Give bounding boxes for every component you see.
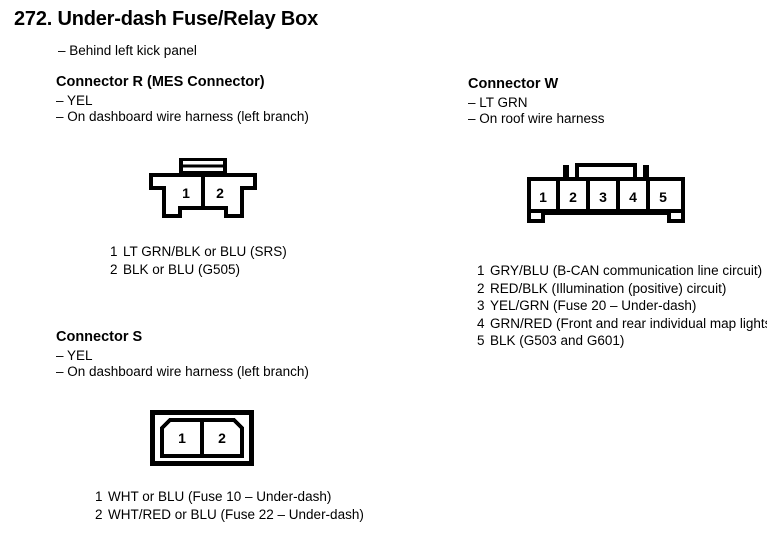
connector-r-color-note: – YEL [56,93,309,108]
page-subtitle: – Behind left kick panel [58,43,197,58]
connector-s-section: Connector S – YEL – On dashboard wire ha… [56,329,309,379]
pin-number: 5 [477,332,490,350]
pin-number: 1 [477,262,490,280]
connector-s-pin-label-1: 1 [178,430,186,446]
connector-r-pin-label-2: 2 [216,185,224,201]
pin-row: 5BLK (G503 and G601) [477,332,767,350]
pin-number: 1 [95,488,108,506]
connector-w-heading: Connector W [468,76,605,92]
pin-number: 2 [110,261,123,279]
pin-description: GRY/BLU (B-CAN communication line circui… [490,263,762,278]
connector-w-color-note: – LT GRN [468,95,605,110]
pin-number: 2 [95,506,108,524]
connector-r-diagram: 1 2 [148,158,258,222]
pin-description: RED/BLK (Illumination (positive) circuit… [490,281,726,296]
connector-r-pin-list: 1LT GRN/BLK or BLU (SRS) 2BLK or BLU (G5… [110,243,287,278]
connector-s-color-note: – YEL [56,348,309,363]
pin-description: WHT or BLU (Fuse 10 – Under-dash) [108,489,331,504]
pin-number: 3 [477,297,490,315]
pin-row: 1GRY/BLU (B-CAN communication line circu… [477,262,767,280]
connector-r-section: Connector R (MES Connector) – YEL – On d… [56,74,309,124]
connector-w-pin-label-1: 1 [539,189,547,205]
connector-s-pin-label-2: 2 [218,430,226,446]
pin-row: 1LT GRN/BLK or BLU (SRS) [110,243,287,261]
pin-number: 2 [477,280,490,298]
connector-s-pin-list: 1WHT or BLU (Fuse 10 – Under-dash) 2WHT/… [95,488,364,523]
connector-w-pin-label-5: 5 [659,189,667,205]
connector-w-pin-label-3: 3 [599,189,607,205]
connector-s-diagram: 1 2 [150,410,254,466]
connector-r-harness-note: – On dashboard wire harness (left branch… [56,109,309,124]
connector-s-harness-note: – On dashboard wire harness (left branch… [56,364,309,379]
pin-number: 4 [477,315,490,333]
connector-r-pin-label-1: 1 [182,185,190,201]
pin-description: BLK (G503 and G601) [490,333,624,348]
pin-row: 2WHT/RED or BLU (Fuse 22 – Under-dash) [95,506,364,524]
pin-description: LT GRN/BLK or BLU (SRS) [123,244,287,259]
pin-row: 1WHT or BLU (Fuse 10 – Under-dash) [95,488,364,506]
connector-r-heading: Connector R (MES Connector) [56,74,309,90]
connector-w-harness-note: – On roof wire harness [468,111,605,126]
connector-w-pin-list: 1GRY/BLU (B-CAN communication line circu… [477,262,767,350]
connector-w-pin-label-4: 4 [629,189,637,205]
pin-row: 4GRN/RED (Front and rear individual map … [477,315,767,333]
connector-w-section: Connector W – LT GRN – On roof wire harn… [468,76,605,126]
pin-description: BLK or BLU (G505) [123,262,240,277]
pin-row: 3YEL/GRN (Fuse 20 – Under-dash) [477,297,767,315]
connector-w-pin-label-2: 2 [569,189,577,205]
pin-number: 1 [110,243,123,261]
page-title: 272. Under-dash Fuse/Relay Box [14,8,318,31]
connector-s-heading: Connector S [56,329,309,345]
pin-description: YEL/GRN (Fuse 20 – Under-dash) [490,298,696,313]
pin-description: GRN/RED (Front and rear individual map l… [490,316,767,331]
pin-description: WHT/RED or BLU (Fuse 22 – Under-dash) [108,507,364,522]
connector-w-diagram: 1 2 3 4 5 [526,163,686,225]
pin-row: 2RED/BLK (Illumination (positive) circui… [477,280,767,298]
pin-row: 2BLK or BLU (G505) [110,261,287,279]
